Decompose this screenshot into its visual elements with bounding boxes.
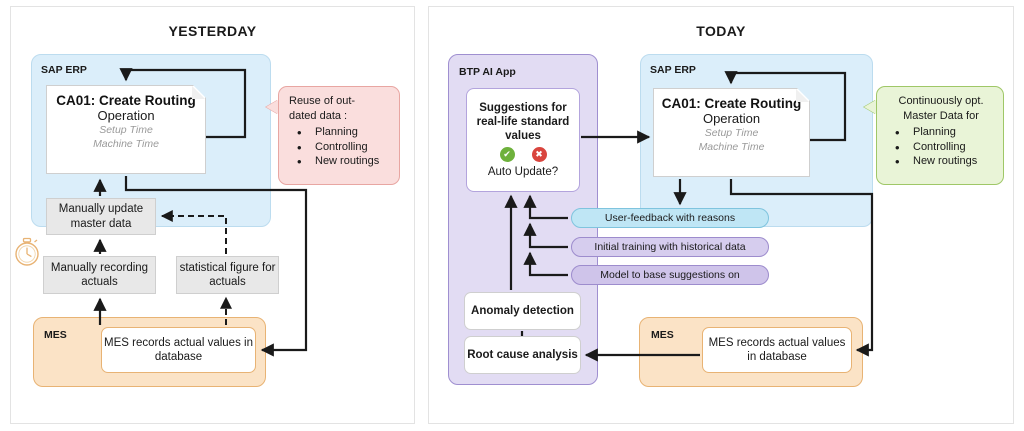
region-sap-erp-today-label: SAP ERP xyxy=(650,64,696,76)
box-label: MES records actual values in database xyxy=(102,336,255,364)
pill-label: Model to base suggestions on xyxy=(600,269,740,281)
box-mes-records-yesterday: MES records actual values in database xyxy=(101,327,256,373)
box-anomaly-detection: Anomaly detection xyxy=(464,292,581,330)
pill-initial-training: Initial training with historical data xyxy=(571,237,769,257)
ca01-subtitle: Operation xyxy=(53,108,199,123)
box-label: Manually update master data xyxy=(47,202,155,230)
box-manually-recording-actuals: Manually recording actuals xyxy=(43,256,156,294)
auto-update-prompt: Auto Update? xyxy=(488,165,558,179)
callout-optimized-master-data: Continuously opt. Master Data for Planni… xyxy=(876,86,1004,185)
callout-title-line1: Continuously opt. xyxy=(887,94,995,109)
ca01-title: CA01: Create Routing xyxy=(53,93,199,108)
ca01-setup-time: Setup Time xyxy=(660,126,803,140)
suggestions-line1: Suggestions for xyxy=(479,101,567,115)
suggestions-line3: values xyxy=(505,129,541,143)
ca01-subtitle: Operation xyxy=(660,111,803,126)
callout-bullet: New routings xyxy=(887,154,995,169)
check-circle-icon[interactable]: ✔ xyxy=(500,147,515,162)
ca01-setup-time: Setup Time xyxy=(53,123,199,137)
ca01-title: CA01: Create Routing xyxy=(660,96,803,111)
pill-user-feedback: User-feedback with reasons xyxy=(571,208,769,228)
ca01-box-today: CA01: Create Routing Operation Setup Tim… xyxy=(653,88,810,177)
box-manually-update-master-data: Manually update master data xyxy=(46,198,156,235)
region-mes-yesterday-label: MES xyxy=(44,329,67,341)
callout-title-line1: Reuse of out- xyxy=(289,94,391,109)
callout-bullet: Planning xyxy=(887,125,995,140)
box-label: Manually recording actuals xyxy=(44,261,155,289)
region-mes-today-label: MES xyxy=(651,329,674,341)
callout-bullet: Controlling xyxy=(289,140,391,155)
ca01-box-yesterday: CA01: Create Routing Operation Setup Tim… xyxy=(46,85,206,174)
x-circle-icon[interactable]: ✖ xyxy=(532,147,547,162)
callout-outdated-data: Reuse of out- dated data : Planning Cont… xyxy=(278,86,400,185)
callout-bullet: New routings xyxy=(289,154,391,169)
callout-title-line2: dated data : xyxy=(289,109,391,124)
region-sap-erp-yesterday-label: SAP ERP xyxy=(41,64,87,76)
pill-label: Initial training with historical data xyxy=(594,241,745,253)
pill-model-base: Model to base suggestions on xyxy=(571,265,769,285)
box-statistical-figure-for-actuals: statistical figure for actuals xyxy=(176,256,279,294)
box-suggestions: Suggestions for real-life standard value… xyxy=(466,88,580,192)
suggestions-line2: real-life standard xyxy=(477,115,570,129)
ca01-machine-time: Machine Time xyxy=(660,140,803,154)
box-label: Anomaly detection xyxy=(471,304,574,318)
box-label: Root cause analysis xyxy=(467,348,578,362)
box-label: MES records actual values in database xyxy=(703,336,851,364)
callout-tail-green xyxy=(864,100,876,114)
callout-bullet: Planning xyxy=(289,125,391,140)
callout-tail-red xyxy=(266,100,278,114)
callout-title-line2: Master Data for xyxy=(887,109,995,124)
pill-label: User-feedback with reasons xyxy=(605,212,735,224)
callout-bullet: Controlling xyxy=(887,140,995,155)
diagram-canvas: YESTERDAY SAP ERP CA01: Create Routing O… xyxy=(0,0,1024,431)
ca01-machine-time: Machine Time xyxy=(53,137,199,151)
box-root-cause-analysis: Root cause analysis xyxy=(464,336,581,374)
panel-yesterday-title: YESTERDAY xyxy=(11,23,414,39)
region-btp-ai-app-label: BTP AI App xyxy=(459,66,516,78)
stopwatch-icon xyxy=(12,234,42,267)
panel-today-title: TODAY xyxy=(429,23,1013,39)
box-mes-records-today: MES records actual values in database xyxy=(702,327,852,373)
box-label: statistical figure for actuals xyxy=(177,261,278,289)
